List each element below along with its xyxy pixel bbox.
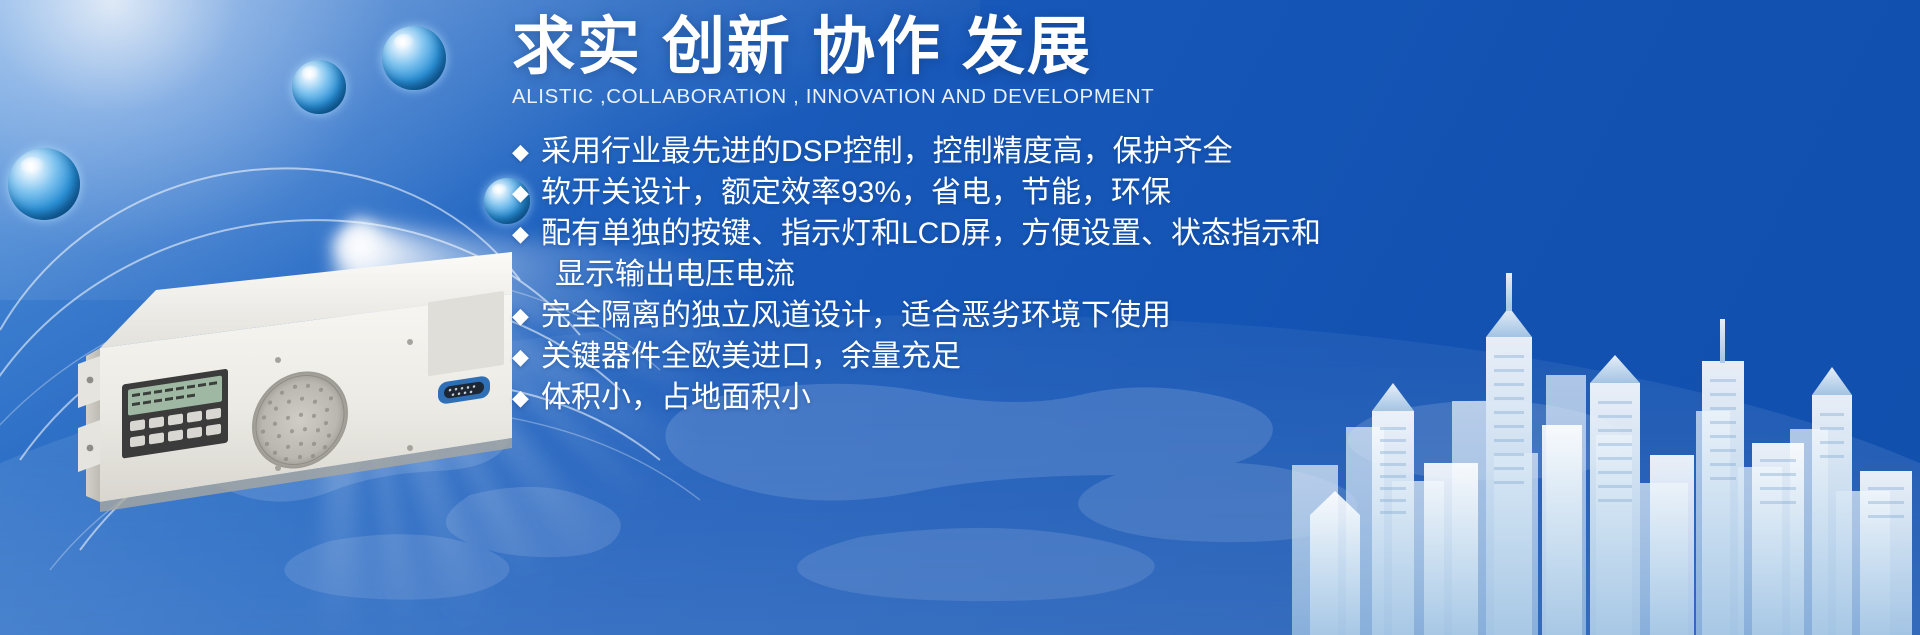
list-item: ◆ 采用行业最先进的DSP控制，控制精度高，保护齐全 bbox=[512, 131, 1512, 172]
diamond-bullet-icon: ◆ bbox=[512, 377, 541, 418]
rack-mount-power-supply bbox=[60, 252, 530, 517]
page-title: 求实创新协作发展 bbox=[512, 14, 1512, 81]
list-item: ◆ 完全隔离的独立风道设计，适合恶劣环境下使用 bbox=[512, 295, 1512, 336]
list-item: ◆ 体积小，占地面积小 bbox=[512, 377, 1512, 418]
list-item: ◆ 软开关设计，额定效率93%，省电，节能，环保 bbox=[512, 172, 1512, 213]
list-item-label: 显示输出电压电流 bbox=[541, 254, 795, 295]
headline-part-1: 求实 bbox=[512, 12, 642, 82]
globe-icon-3 bbox=[382, 26, 446, 90]
headline-part-3: 协作 bbox=[812, 12, 942, 82]
globe-icon-2 bbox=[292, 60, 346, 114]
globe-icon-1 bbox=[8, 148, 80, 220]
diamond-bullet-icon: ◆ bbox=[512, 336, 541, 377]
headline-part-4: 发展 bbox=[962, 12, 1092, 82]
page-subtitle: ALISTIC ,COLLABORATION , INNOVATION AND … bbox=[512, 85, 1512, 109]
list-item-continuation: ◆ 显示输出电压电流 bbox=[512, 254, 1512, 295]
list-item-label: 关键器件全欧美进口，余量充足 bbox=[541, 336, 961, 377]
list-item-label: 配有单独的按键、指示灯和LCD屏，方便设置、状态指示和 bbox=[541, 213, 1321, 254]
list-item: ◆ 配有单独的按键、指示灯和LCD屏，方便设置、状态指示和 bbox=[512, 213, 1512, 254]
diamond-bullet-icon: ◆ bbox=[512, 131, 541, 172]
promotional-banner: 求实创新协作发展 ALISTIC ,COLLABORATION , INNOVA… bbox=[0, 0, 1920, 635]
diamond-bullet-icon: ◆ bbox=[512, 295, 541, 336]
list-item-label: 完全隔离的独立风道设计，适合恶劣环境下使用 bbox=[541, 295, 1171, 336]
headline-part-2: 创新 bbox=[662, 12, 792, 82]
diamond-bullet-icon: ◆ bbox=[512, 172, 541, 213]
list-item-label: 采用行业最先进的DSP控制，控制精度高，保护齐全 bbox=[541, 131, 1233, 172]
banner-text-content: 求实创新协作发展 ALISTIC ,COLLABORATION , INNOVA… bbox=[512, 14, 1512, 418]
diamond-bullet-icon: ◆ bbox=[512, 213, 541, 254]
list-item-label: 体积小，占地面积小 bbox=[541, 377, 811, 418]
feature-list: ◆ 采用行业最先进的DSP控制，控制精度高，保护齐全 ◆ 软开关设计，额定效率9… bbox=[512, 131, 1512, 418]
list-item: ◆ 关键器件全欧美进口，余量充足 bbox=[512, 336, 1512, 377]
list-item-label: 软开关设计，额定效率93%，省电，节能，环保 bbox=[541, 172, 1171, 213]
